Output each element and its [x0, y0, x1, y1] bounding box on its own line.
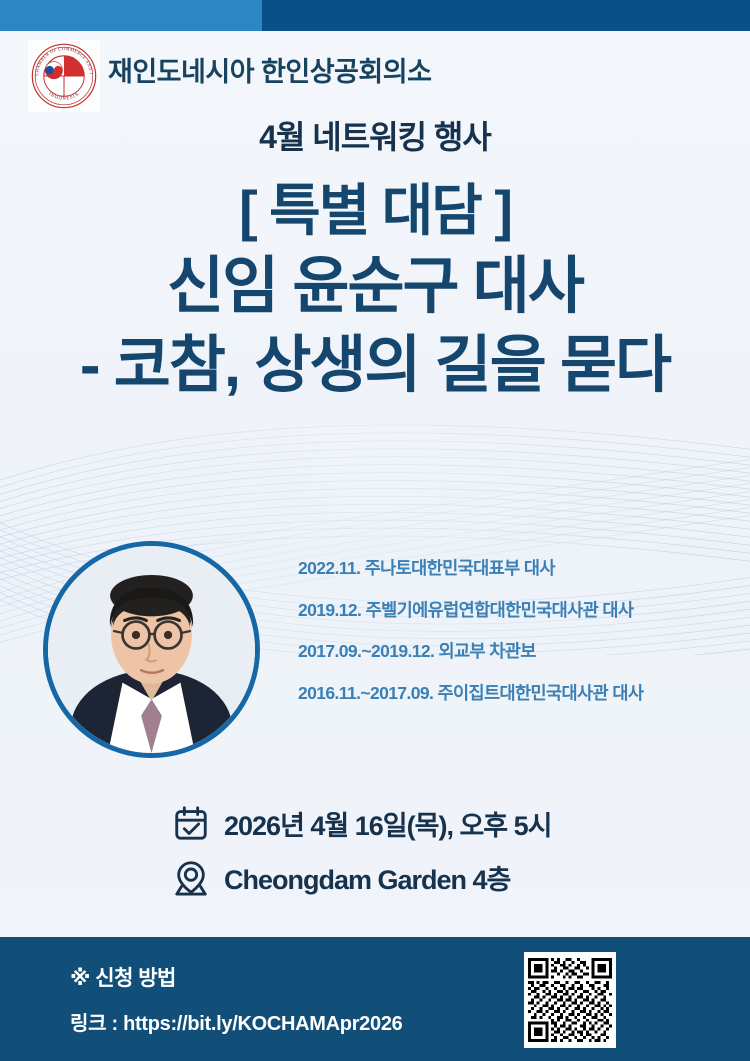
event-details: 2026년 4월 16일(목), 오후 5시 Cheongdam Garden …	[172, 803, 692, 911]
bio-entry: 2019.12. 주벨기에유럽연합대한민국대사관 대사	[298, 602, 738, 620]
speaker-bio-list: 2022.11. 주나토대한민국대표부 대사 2019.12. 주벨기에유럽연합…	[298, 560, 738, 726]
speaker-portrait	[43, 541, 260, 758]
top-accent-bar	[0, 0, 750, 31]
event-location-text: Cheongdam Garden 4층	[224, 858, 510, 897]
event-date-text: 2026년 4월 16일(목), 오후 5시	[224, 804, 552, 843]
top-accent-bar-right	[262, 0, 750, 31]
event-location-row: Cheongdam Garden 4층	[172, 857, 692, 897]
organization-name: 재인도네시아 한인상공회의소	[108, 50, 431, 89]
bio-entry: 2022.11. 주나토대한민국대표부 대사	[298, 560, 738, 578]
poster-header: KOREAN CHAMBER OF COMMERCE AND INDUSTRY …	[0, 40, 750, 112]
title-line-2: 신임 윤순구 대사	[0, 250, 750, 323]
event-subtitle: 4월 네트워킹 행사	[0, 112, 750, 158]
event-poster: KOREAN CHAMBER OF COMMERCE AND INDUSTRY …	[0, 0, 750, 1061]
bio-entry: 2017.09.~2019.12. 외교부 차관보	[298, 643, 738, 661]
registration-method-label: ※ 신청 방법	[70, 962, 176, 992]
poster-footer: ※ 신청 방법 링크 : https://bit.ly/KOCHAMApr202…	[0, 937, 750, 1061]
registration-link[interactable]: 링크 : https://bit.ly/KOCHAMApr2026	[70, 1007, 402, 1036]
kocham-logo-icon: KOREAN CHAMBER OF COMMERCE AND INDUSTRY …	[28, 40, 100, 112]
bio-entry: 2016.11.~2017.09. 주이집트대한민국대사관 대사	[298, 685, 738, 703]
calendar-check-icon	[172, 803, 210, 843]
title-line-1: [ 특별 대담 ]	[0, 178, 750, 244]
main-title-block: [ 특별 대담 ] 신임 윤순구 대사 - 코참, 상생의 길을 묻다	[0, 178, 750, 402]
map-pin-icon	[172, 857, 210, 897]
event-date-row: 2026년 4월 16일(목), 오후 5시	[172, 803, 692, 843]
top-accent-bar-left	[0, 0, 262, 31]
registration-qr-code[interactable]	[524, 952, 616, 1048]
title-line-3: - 코참, 상생의 길을 묻다	[0, 329, 750, 402]
